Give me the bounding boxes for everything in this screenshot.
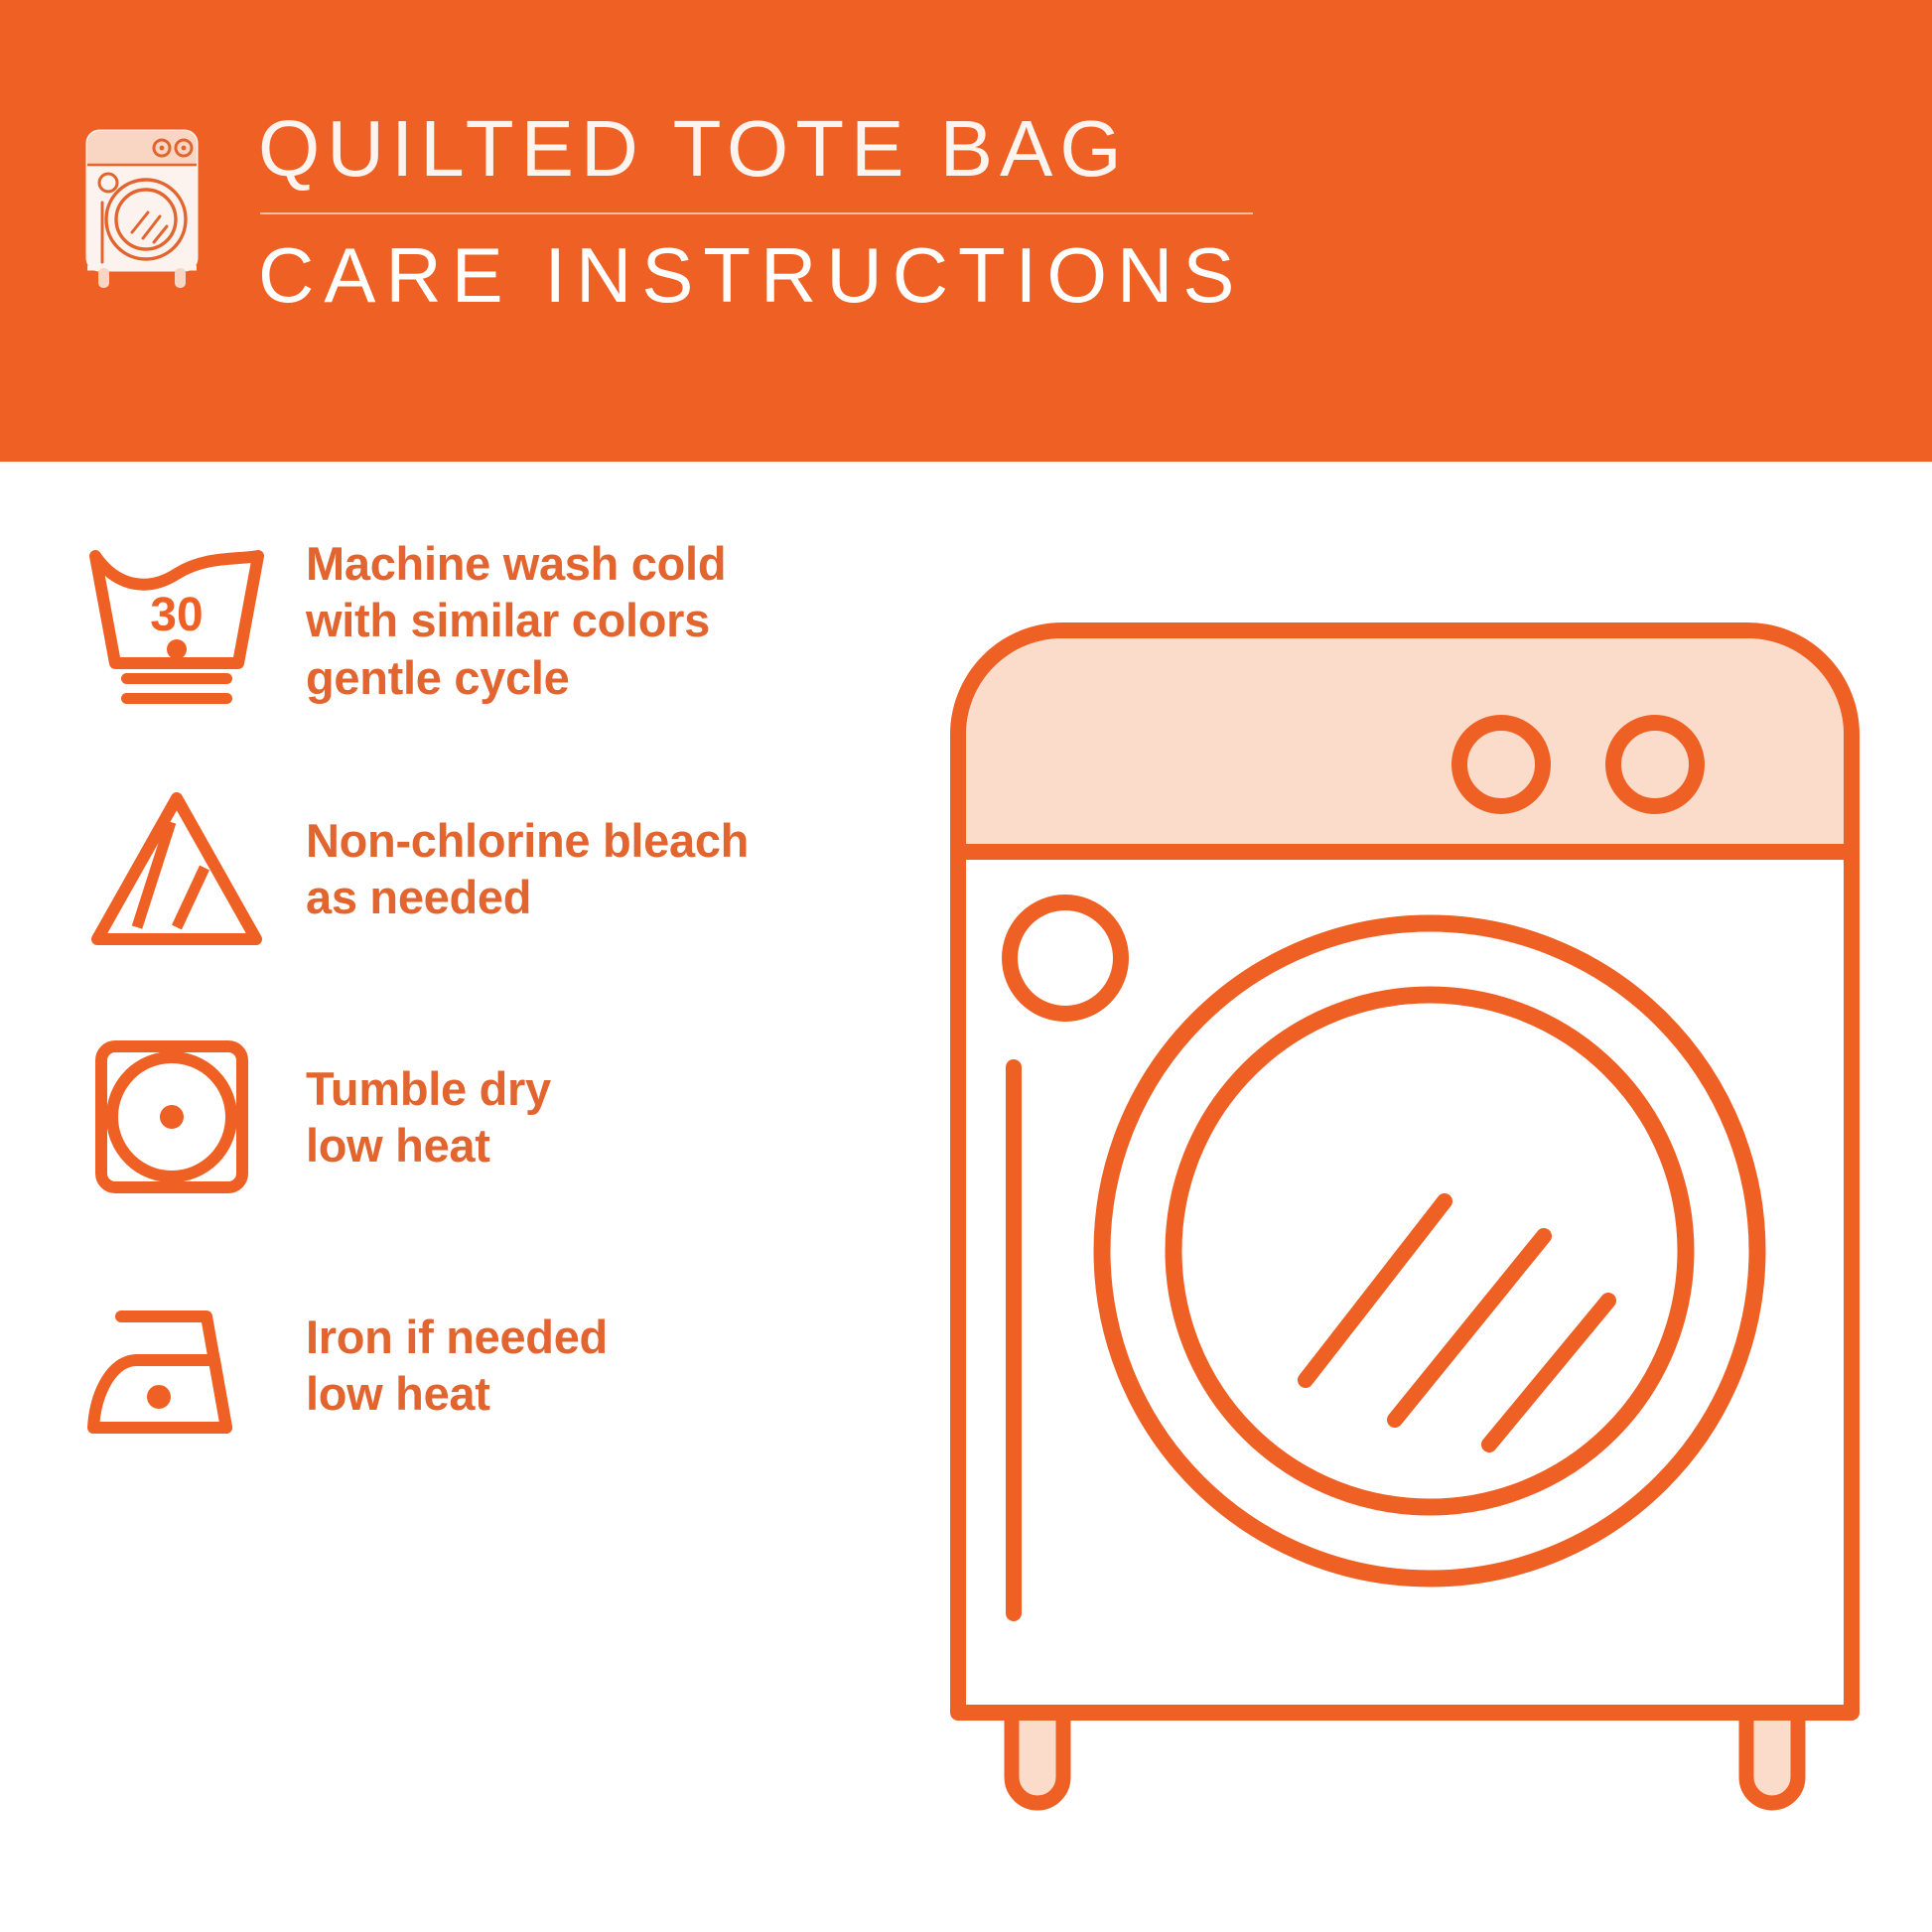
tumble-dry-low-icon xyxy=(77,1031,276,1204)
care-row-machine-wash: 30 Machine wash cold with similar colors… xyxy=(0,496,874,745)
header-content: QUILTED TOTE BAG CARE INSTRUCTIONS xyxy=(74,117,1253,314)
control-panel xyxy=(966,638,1844,852)
page-subtitle: CARE INSTRUCTIONS xyxy=(258,236,1253,314)
care-text-line: gentle cycle xyxy=(306,649,726,706)
care-instruction-list: 30 Machine wash cold with similar colors… xyxy=(0,496,874,1489)
washing-machine-icon xyxy=(74,117,213,291)
care-row-tumble-dry: Tumble dry low heat xyxy=(0,993,874,1241)
header-divider xyxy=(260,212,1253,214)
care-text-machine-wash: Machine wash cold with similar colors ge… xyxy=(306,535,726,706)
care-text-line: Tumble dry xyxy=(306,1060,551,1117)
machine-legs xyxy=(1012,1708,1798,1803)
care-text-line: Machine wash cold xyxy=(306,535,726,592)
care-row-bleach: Non-chlorine bleach as needed xyxy=(0,745,874,993)
header-banner: QUILTED TOTE BAG CARE INSTRUCTIONS xyxy=(0,0,1932,462)
care-text-bleach: Non-chlorine bleach as needed xyxy=(306,812,749,926)
knob-right-icon xyxy=(1613,723,1697,806)
care-row-iron: Iron if needed low heat xyxy=(0,1241,874,1489)
iron-low-heat-icon xyxy=(77,1279,276,1452)
care-text-iron: Iron if needed low heat xyxy=(306,1309,608,1423)
care-text-line: low heat xyxy=(306,1365,608,1422)
knob-left-icon xyxy=(1459,723,1543,806)
care-text-line: Iron if needed xyxy=(306,1309,608,1365)
washing-machine-illustration xyxy=(948,621,1862,1842)
care-text-line: as needed xyxy=(306,869,749,925)
non-chlorine-bleach-triangle-icon xyxy=(77,782,276,956)
care-text-tumble-dry: Tumble dry low heat xyxy=(306,1060,551,1174)
wash-temperature-value: 30 xyxy=(150,589,203,641)
care-text-line: Non-chlorine bleach xyxy=(306,812,749,869)
wash-tub-30-gentle-icon: 30 xyxy=(77,534,276,708)
care-text-line: with similar colors xyxy=(306,592,726,648)
header-text-block: QUILTED TOTE BAG CARE INSTRUCTIONS xyxy=(258,109,1253,314)
page-title: QUILTED TOTE BAG xyxy=(258,109,1253,189)
care-text-line: low heat xyxy=(306,1117,551,1173)
